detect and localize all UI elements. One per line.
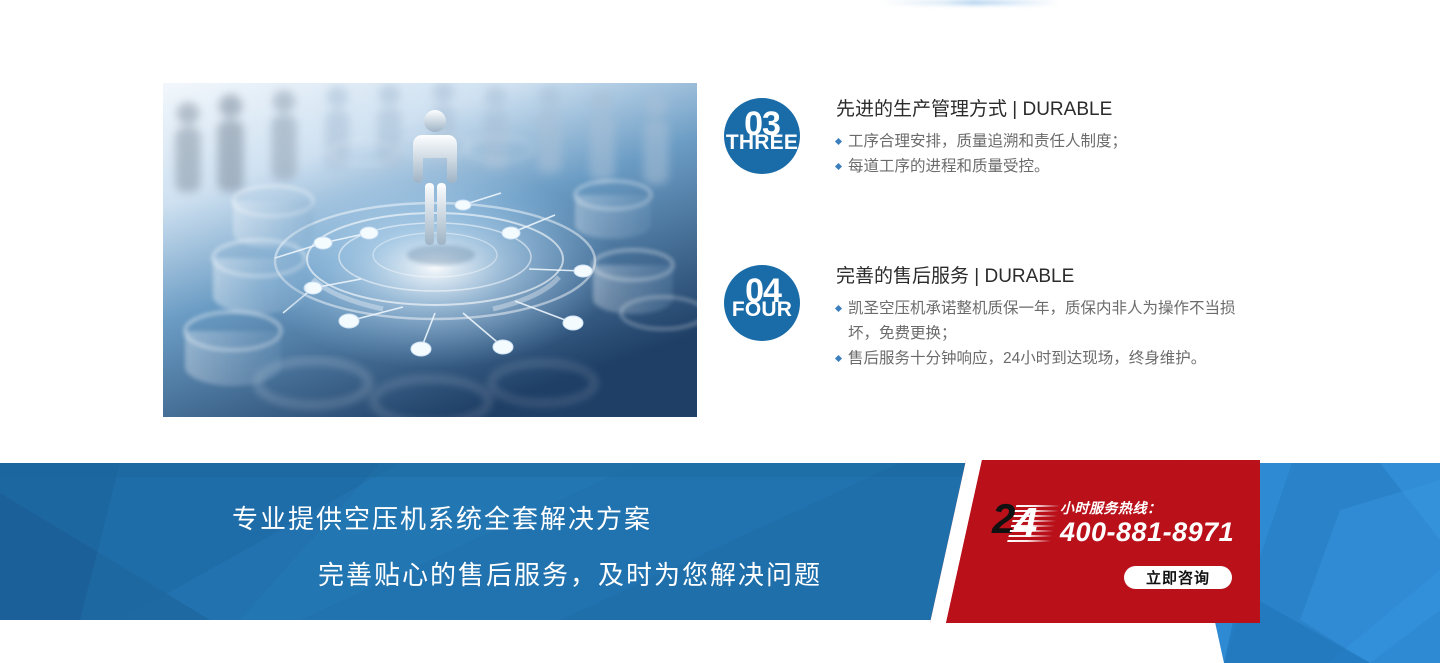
network-concept-illustration xyxy=(163,83,697,417)
hotline-block: 2 4 小时服务热线： 400-881-8971 xyxy=(992,498,1234,548)
page-root: 03 THREE 先进的生产管理方式 | DURABLE 工序合理安排，质量追溯… xyxy=(0,0,1440,663)
feature-badge-04: 04 FOUR xyxy=(724,265,800,341)
top-edge-artifact xyxy=(880,0,1060,5)
feature-bullet: 每道工序的进程和质量受控。 xyxy=(836,154,1127,179)
banner-headline-line-1: 专业提供空压机系统全套解决方案 xyxy=(232,504,652,534)
feature-text-04: 完善的售后服务 | DURABLE 凯圣空压机承诺整机质保一年，质保内非人为操作… xyxy=(836,265,1236,371)
consult-now-button[interactable]: 立即咨询 xyxy=(1124,566,1232,589)
banner-headline-line-2: 完善贴心的售后服务，及时为您解决问题 xyxy=(318,560,822,590)
twenty-four-logo: 2 4 xyxy=(992,498,1054,546)
feature-bullet: 售后服务十分钟响应，24小时到达现场，终身维护。 xyxy=(836,346,1236,371)
digit-two: 2 xyxy=(992,498,1015,540)
feature-badge-03: 03 THREE xyxy=(724,98,800,174)
feature-bullet-list: 工序合理安排，质量追溯和责任人制度； 每道工序的进程和质量受控。 xyxy=(836,129,1127,179)
feature-text-03: 先进的生产管理方式 | DURABLE 工序合理安排，质量追溯和责任人制度； 每… xyxy=(836,98,1127,179)
digit-four: 4 xyxy=(1014,502,1037,544)
hotline-text: 小时服务热线： 400-881-8971 xyxy=(1060,498,1234,548)
feature-block-03: 03 THREE 先进的生产管理方式 | DURABLE 工序合理安排，质量追溯… xyxy=(724,98,1127,179)
feature-bullet: 工序合理安排，质量追溯和责任人制度； xyxy=(836,129,1127,154)
feature-bullet: 凯圣空压机承诺整机质保一年，质保内非人为操作不当损坏，免费更换； xyxy=(836,296,1236,346)
feature-bullet-list: 凯圣空压机承诺整机质保一年，质保内非人为操作不当损坏，免费更换； 售后服务十分钟… xyxy=(836,296,1236,371)
feature-title: 完善的售后服务 | DURABLE xyxy=(836,265,1236,289)
feature-photo xyxy=(163,83,697,417)
hotline-label: 小时服务热线： xyxy=(1060,500,1234,516)
badge-word: FOUR xyxy=(724,299,800,320)
badge-word: THREE xyxy=(724,132,800,153)
hotline-phone-number: 400-881-8971 xyxy=(1060,516,1234,548)
feature-block-04: 04 FOUR 完善的售后服务 | DURABLE 凯圣空压机承诺整机质保一年，… xyxy=(724,265,1236,371)
feature-title: 先进的生产管理方式 | DURABLE xyxy=(836,98,1127,122)
